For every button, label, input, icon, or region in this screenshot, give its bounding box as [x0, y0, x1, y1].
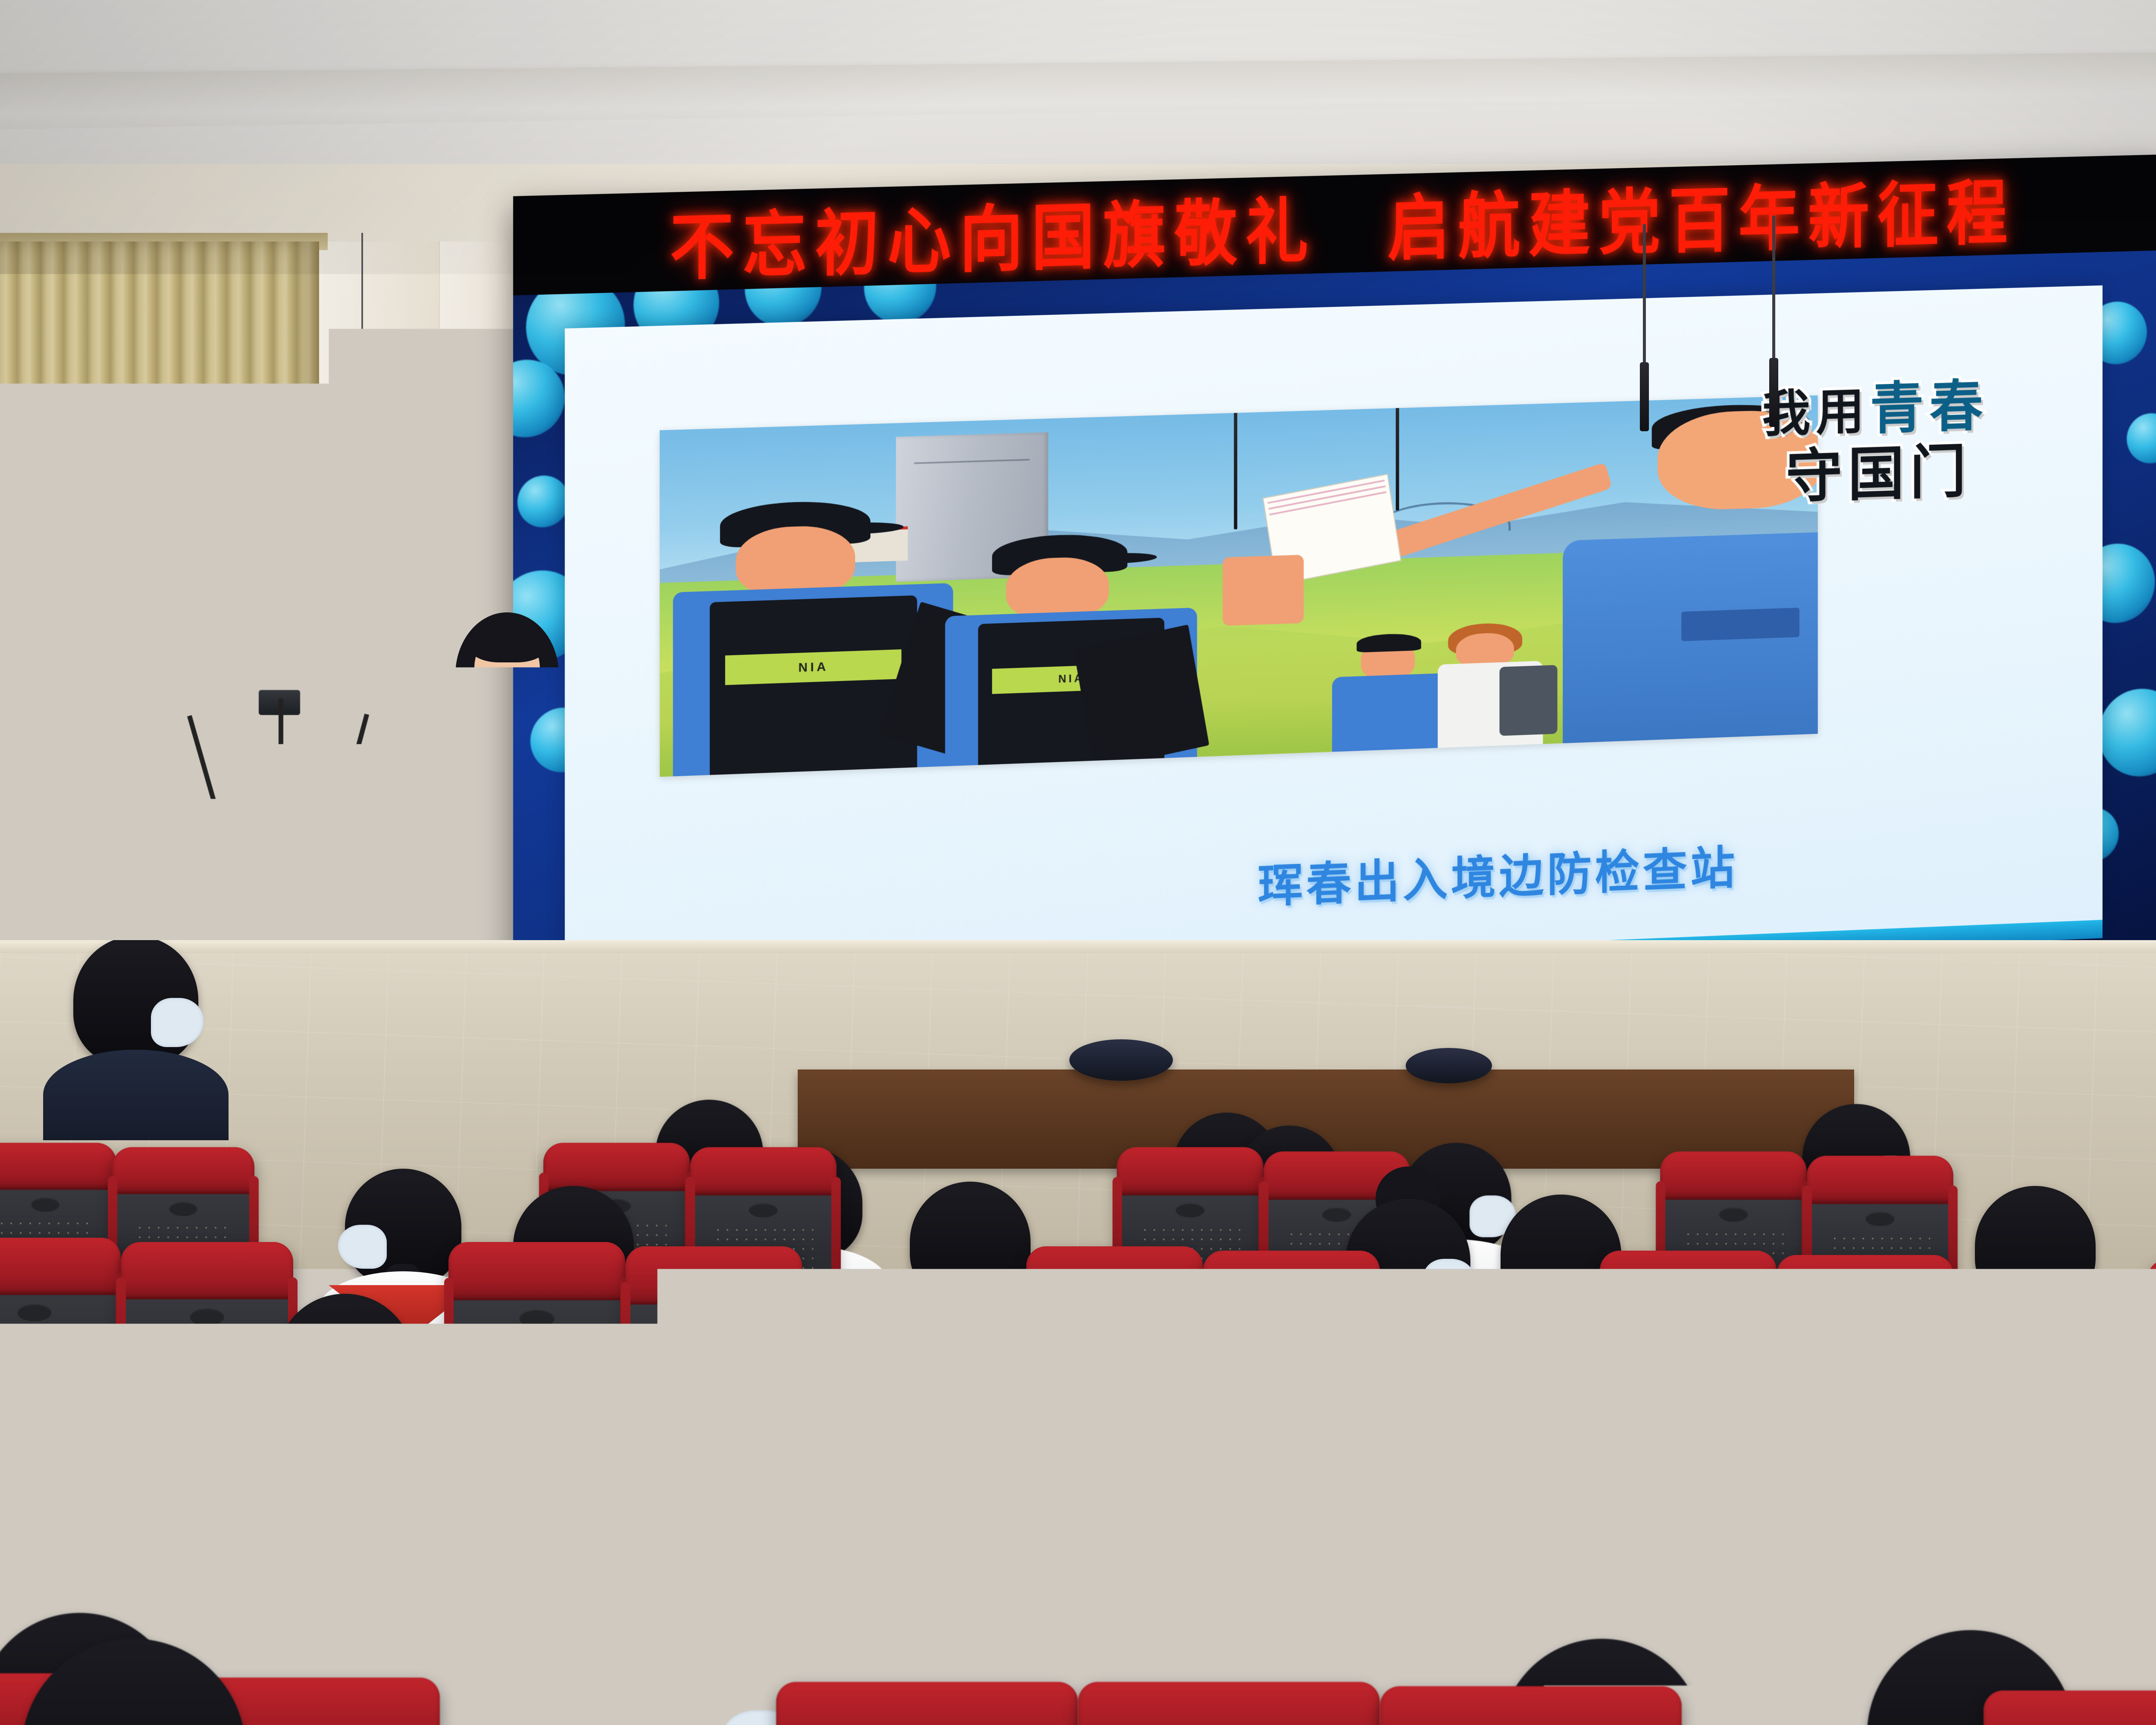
audience-seating: [0, 940, 2156, 1725]
foreground-officer-figure: [1545, 408, 1818, 744]
bubble-decoration: [2099, 687, 2156, 778]
auditorium-scene: 不忘初心向国旗敬礼 启航建党百年新征程: [0, 0, 2156, 1725]
auditorium-seat[interactable]: [776, 1682, 1078, 1725]
audience-member: [910, 1182, 1031, 1302]
presentation-slide: NIA NIA: [565, 285, 2103, 983]
shoulder-badge-icon: [562, 745, 583, 770]
rifle-prop: [1073, 624, 1209, 770]
led-screen-body: NIA NIA: [513, 250, 2156, 1011]
hair: [1975, 1186, 2096, 1307]
station-name-text: 珲春出入境边防检查站: [1005, 821, 1983, 926]
presenter-nametag: [514, 755, 564, 763]
ceiling-microphone: [357, 410, 367, 496]
nia-vest-label: NIA: [725, 649, 902, 685]
flower-pin-icon: [522, 742, 531, 751]
water-bottle[interactable]: [478, 752, 496, 780]
slogan-char: 用: [1816, 386, 1865, 439]
hanging-microphone: [1772, 216, 1775, 362]
officer-hand-arm: [1222, 555, 1304, 626]
ceiling-microphone-cable: [361, 233, 363, 414]
hanging-microphone: [642, 259, 646, 388]
hanging-microphone: [1643, 224, 1646, 367]
inspecting-officer-figure: [1338, 639, 1442, 752]
police-cap-on-desk: [1069, 1039, 1173, 1081]
audience-member: [22, 1639, 246, 1725]
poster-artwork: NIA NIA: [660, 395, 1818, 777]
face-mask-icon: [1423, 1259, 1476, 1306]
confidence-monitor[interactable]: [0, 588, 132, 858]
auditorium-seat[interactable]: [1078, 1682, 1380, 1725]
hair: [22, 1639, 246, 1725]
bubble-decoration: [517, 475, 569, 528]
slogan-char: 春: [1930, 378, 1983, 436]
bubble-decoration: [2127, 413, 2156, 464]
police-cap-on-desk: [1406, 1048, 1492, 1083]
podium-emblem-icon: [416, 848, 467, 900]
antenna-pole: [1234, 395, 1238, 530]
guard-tactical-vest: [710, 595, 917, 775]
traveller-figure: [1442, 621, 1545, 748]
slogan-char: 青: [1870, 379, 1924, 438]
audience-member: [595, 1613, 798, 1725]
officer-rank-chevron: [1681, 608, 1799, 641]
auditorium-seat[interactable]: [1984, 1690, 2156, 1725]
presenter-epaulette: [437, 723, 479, 734]
monitor-slide-caption: [0, 775, 104, 800]
presenter-lips: [500, 685, 517, 691]
slogan-char: 国: [1848, 444, 1904, 505]
hair: [595, 1613, 798, 1725]
monitor-screen: [0, 594, 116, 820]
standing-officer: [73, 940, 198, 1065]
officer-uniform: [1332, 673, 1448, 752]
monitor-slide-thumbnail: [0, 643, 99, 748]
presenter-epaulette: [537, 723, 579, 734]
wall-outlet-box: [215, 574, 245, 622]
audience-member: [1522, 1682, 1755, 1725]
antenna-pole: [1396, 395, 1399, 511]
led-video-wall[interactable]: 不忘初心向国旗敬礼 启航建党百年新征程: [513, 154, 2156, 1011]
auditorium-seat[interactable]: [2147, 1259, 2156, 1488]
officer-uniform-shoulders: [43, 1050, 228, 1140]
slogan-char: 门: [1910, 442, 1966, 503]
audience-member: [345, 1169, 461, 1285]
face-mask-icon: [338, 1225, 387, 1269]
presenter-fringe: [470, 625, 546, 662]
face-mask-icon: [151, 998, 204, 1047]
audience-member: [1975, 1186, 2096, 1307]
